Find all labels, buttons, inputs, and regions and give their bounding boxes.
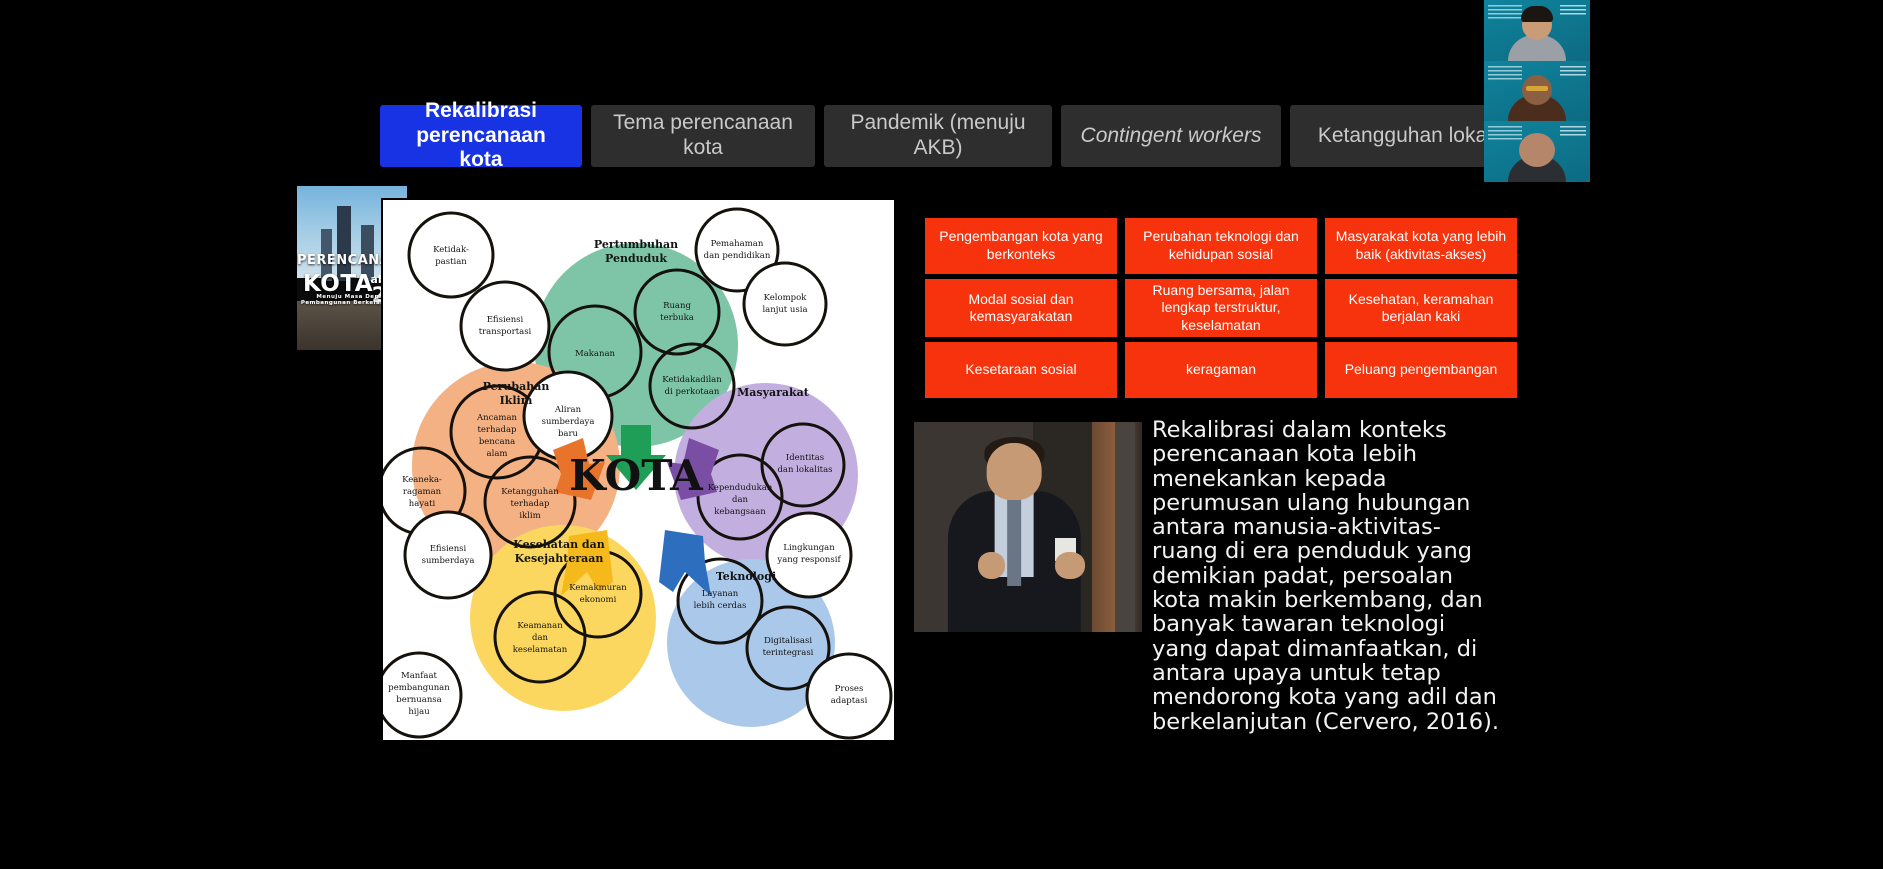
outer-circle-efisiensi-sumberdaya xyxy=(405,512,491,598)
svg-text:iklim: iklim xyxy=(519,511,540,521)
svg-text:Efisiensi: Efisiensi xyxy=(430,544,467,554)
section-tab-bar: Rekalibrasi perencanaan kota Tema perenc… xyxy=(380,105,1515,167)
svg-text:kebangsaan: kebangsaan xyxy=(714,507,766,517)
screen-share-view: Rekalibrasi perencanaan kota Tema perenc… xyxy=(0,0,1883,869)
shared-slide: Rekalibrasi perencanaan kota Tema perenc… xyxy=(0,0,1883,869)
video-slide-text-left xyxy=(1488,66,1522,80)
photo-door xyxy=(1115,422,1136,632)
city-venn-diagram: KOTA Pertumbuhan Penduduk Perubahan Ikli… xyxy=(383,200,894,740)
svg-text:Ancaman: Ancaman xyxy=(476,413,518,423)
label-pertumbuhan-penduduk-2: Penduduk xyxy=(605,252,667,265)
label-teknologi: Teknologi xyxy=(716,570,776,583)
svg-text:terhadap: terhadap xyxy=(510,499,550,509)
video-slide-text-right xyxy=(1560,66,1586,78)
tab-contingent-workers[interactable]: Contingent workers xyxy=(1061,105,1281,167)
grid-cell[interactable]: Pengembangan kota yang berkonteks xyxy=(925,218,1117,274)
photo-head xyxy=(987,443,1042,500)
speaker-photo xyxy=(914,422,1142,632)
grid-cell[interactable]: keragaman xyxy=(1125,342,1317,398)
svg-text:adaptasi: adaptasi xyxy=(831,696,868,706)
grid-cell[interactable]: Modal sosial dan kemasyarakatan xyxy=(925,279,1117,338)
label-kesejahteraan: Kesejahteraan xyxy=(515,552,604,565)
svg-text:Ketidak-: Ketidak- xyxy=(433,245,469,255)
slide-paragraph: Rekalibrasi dalam konteks perencanaan ko… xyxy=(1152,418,1504,734)
photo-tie xyxy=(1007,498,1021,586)
svg-text:yang responsif: yang responsif xyxy=(776,555,841,565)
participant-video-tile[interactable] xyxy=(1484,61,1590,122)
grid-cell[interactable]: Kesetaraan sosial xyxy=(925,342,1117,398)
svg-text:lebih cerdas: lebih cerdas xyxy=(694,601,747,611)
tab-label: Tema perencanaan kota xyxy=(605,111,801,161)
svg-text:Proses: Proses xyxy=(835,684,864,694)
svg-text:di perkotaan: di perkotaan xyxy=(665,387,720,397)
svg-text:Efisiensi: Efisiensi xyxy=(487,315,524,325)
label-pertumbuhan-penduduk: Pertumbuhan xyxy=(594,238,678,251)
photo-hand-right xyxy=(1055,552,1085,579)
grid-cell[interactable]: Masyarakat kota yang lebih baik (aktivit… xyxy=(1325,218,1517,274)
svg-text:ekonomi: ekonomi xyxy=(580,595,617,605)
participant-video-tile[interactable] xyxy=(1484,121,1590,182)
video-slide-text-left xyxy=(1488,5,1522,19)
svg-text:Ketidakadilan: Ketidakadilan xyxy=(662,375,722,385)
svg-text:lanjut usia: lanjut usia xyxy=(762,305,807,315)
svg-text:dan pendidikan: dan pendidikan xyxy=(704,251,771,261)
svg-text:Kependudukan: Kependudukan xyxy=(708,483,773,493)
grid-cell[interactable]: Ruang bersama, jalan lengkap terstruktur… xyxy=(1125,279,1317,338)
svg-text:transportasi: transportasi xyxy=(479,327,532,337)
svg-text:Manfaat: Manfaat xyxy=(401,671,438,681)
video-slide-text-right xyxy=(1560,126,1586,138)
svg-text:Digitalisasi: Digitalisasi xyxy=(764,636,812,646)
svg-text:ragaman: ragaman xyxy=(403,487,442,497)
svg-text:dan lokalitas: dan lokalitas xyxy=(777,465,832,475)
video-slide-text-right xyxy=(1560,5,1586,17)
grid-cell[interactable]: Peluang pengembangan xyxy=(1325,342,1517,398)
venn-diagram-svg: KOTA Pertumbuhan Penduduk Perubahan Ikli… xyxy=(383,200,894,740)
svg-text:sumberdaya: sumberdaya xyxy=(542,417,595,427)
svg-text:Keaneka-: Keaneka- xyxy=(402,475,442,485)
svg-text:dan: dan xyxy=(732,495,749,505)
svg-text:Identitas: Identitas xyxy=(786,453,824,463)
outer-circle-ketidak-pastian xyxy=(409,213,493,297)
participant-head xyxy=(1519,133,1555,167)
svg-text:terhadap: terhadap xyxy=(477,425,517,435)
label-masyarakat: Masyarakat xyxy=(737,386,810,399)
svg-text:bernuansa: bernuansa xyxy=(396,695,441,705)
grid-cell[interactable]: Kesehatan, keramahan berjalan kaki xyxy=(1325,279,1517,338)
tab-label: Ketangguhan loka xyxy=(1318,124,1487,149)
video-slide-text-left xyxy=(1488,126,1522,140)
svg-text:Layanan: Layanan xyxy=(702,589,739,599)
svg-text:alam: alam xyxy=(487,449,508,459)
participant-glasses xyxy=(1526,86,1548,91)
svg-text:terbuka: terbuka xyxy=(660,313,694,323)
participant-video-strip xyxy=(1484,0,1590,182)
grid-cell[interactable]: Perubahan teknologi dan kehidupan sosial xyxy=(1125,218,1317,274)
svg-text:Kelompok: Kelompok xyxy=(764,293,808,303)
tab-pandemik-menuju-akb[interactable]: Pandemik (menuju AKB) xyxy=(824,105,1052,167)
svg-text:pastian: pastian xyxy=(435,257,467,267)
svg-text:Aliran: Aliran xyxy=(554,405,582,415)
book-cover-tower xyxy=(337,206,351,281)
svg-text:baru: baru xyxy=(558,429,579,439)
photo-hand-left xyxy=(978,552,1005,579)
svg-text:keselamatan: keselamatan xyxy=(513,645,568,655)
svg-text:sumberdaya: sumberdaya xyxy=(422,556,475,566)
label-perubahan-iklim-2: Iklim xyxy=(500,394,533,407)
key-points-grid: Pengembangan kota yang berkonteks Peruba… xyxy=(925,218,1517,398)
tab-ketangguhan-lokal[interactable]: Ketangguhan loka xyxy=(1290,105,1515,167)
tab-label: Pandemik (menuju AKB) xyxy=(838,111,1038,161)
svg-text:Ketangguhan: Ketangguhan xyxy=(501,487,559,497)
tab-tema-perencanaan-kota[interactable]: Tema perencanaan kota xyxy=(591,105,815,167)
svg-text:hayati: hayati xyxy=(409,499,436,509)
tab-label: Rekalibrasi perencanaan kota xyxy=(394,99,568,173)
svg-text:terintegrasi: terintegrasi xyxy=(763,648,814,658)
tab-rekalibrasi-perencanaan-kota[interactable]: Rekalibrasi perencanaan kota xyxy=(380,105,582,167)
svg-text:pembangunan: pembangunan xyxy=(388,683,450,693)
svg-text:Makanan: Makanan xyxy=(575,349,616,359)
label-perubahan-iklim: Perubahan xyxy=(483,380,550,393)
svg-text:dan: dan xyxy=(532,633,549,643)
svg-text:Lingkungan: Lingkungan xyxy=(783,543,835,553)
svg-text:Ruang: Ruang xyxy=(663,301,691,311)
outer-circle-efisiensi-transportasi xyxy=(461,282,549,370)
participant-video-tile[interactable] xyxy=(1484,0,1590,61)
svg-text:Pemahaman: Pemahaman xyxy=(711,239,764,249)
svg-text:Keamanan: Keamanan xyxy=(517,621,563,631)
participant-hair xyxy=(1521,6,1553,22)
diagram-center-label: KOTA xyxy=(569,451,704,500)
tab-label: Contingent workers xyxy=(1081,124,1262,149)
label-kesehatan: Kesehatan dan xyxy=(513,538,605,551)
svg-text:bencana: bencana xyxy=(479,437,515,447)
outer-circle-kelompok-lanjut-usia xyxy=(744,263,826,345)
svg-text:hijau: hijau xyxy=(408,707,430,717)
svg-text:Kemakmuran: Kemakmuran xyxy=(569,583,627,593)
